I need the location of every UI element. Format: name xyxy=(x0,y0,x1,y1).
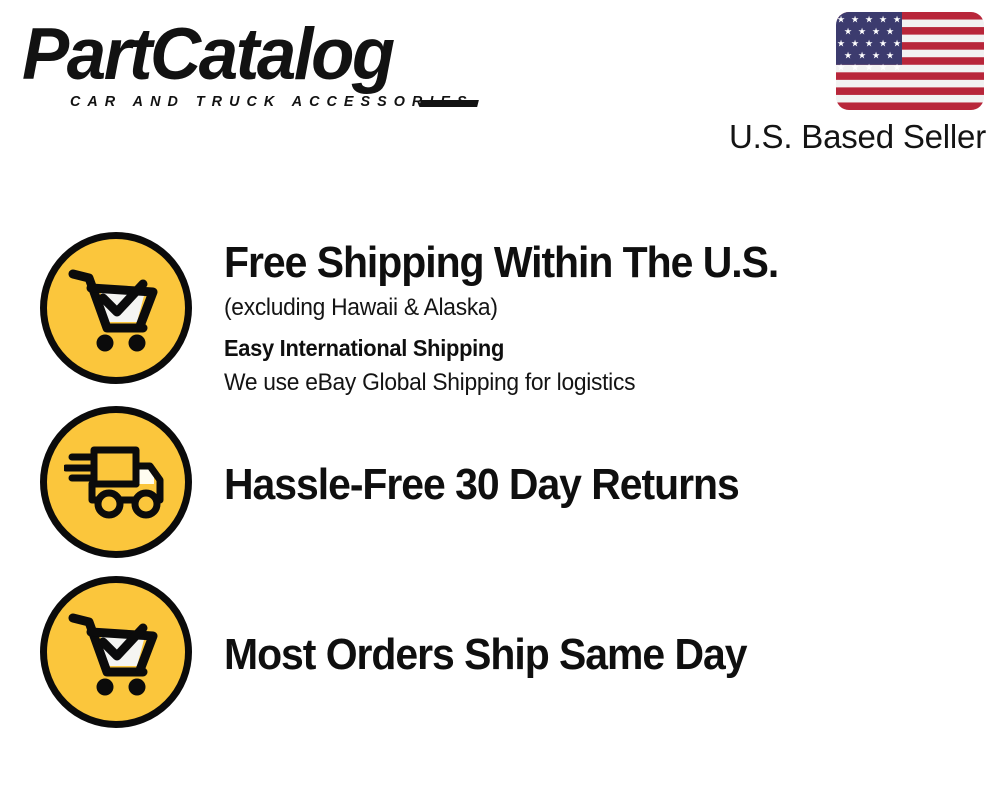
shopping-cart-check-icon xyxy=(40,232,192,384)
feature-title: Most Orders Ship Same Day xyxy=(224,630,912,680)
feature-row: Hassle-Free 30 Day Returns xyxy=(0,404,1000,576)
brand-logo: PartCatalog CAR AND TRUCK ACCESSORIES xyxy=(22,18,492,110)
us-flag-icon xyxy=(836,12,984,110)
brand-underline-accent xyxy=(419,100,479,107)
feature-row: Free Shipping Within The U.S. (excluding… xyxy=(0,232,1000,404)
feature-row: Most Orders Ship Same Day xyxy=(0,576,1000,748)
feature-text-block: Most Orders Ship Same Day xyxy=(224,630,964,680)
feature-text-block: Hassle-Free 30 Day Returns xyxy=(224,460,964,510)
us-flag-svg xyxy=(836,12,984,110)
feature-subtitle-detail: We use eBay Global Shipping for logistic… xyxy=(224,367,927,399)
us-based-seller-label: U.S. Based Seller xyxy=(729,118,986,156)
feature-subtitle: (excluding Hawaii & Alaska) xyxy=(224,292,927,324)
feature-subtitle-strong: Easy International Shipping xyxy=(224,333,927,363)
feature-title: Free Shipping Within The U.S. xyxy=(224,238,912,288)
us-flag-badge xyxy=(836,12,984,110)
shopping-cart-check-icon xyxy=(40,576,192,728)
feature-list: Free Shipping Within The U.S. (excluding… xyxy=(0,232,1000,748)
feature-title: Hassle-Free 30 Day Returns xyxy=(224,460,912,510)
banner-header: PartCatalog CAR AND TRUCK ACCESSORIES xyxy=(0,0,1000,180)
delivery-truck-icon xyxy=(40,406,192,558)
feature-text-block: Free Shipping Within The U.S. (excluding… xyxy=(224,238,964,399)
promo-banner: PartCatalog CAR AND TRUCK ACCESSORIES xyxy=(0,0,1000,800)
brand-wordmark: PartCatalog xyxy=(22,18,478,92)
